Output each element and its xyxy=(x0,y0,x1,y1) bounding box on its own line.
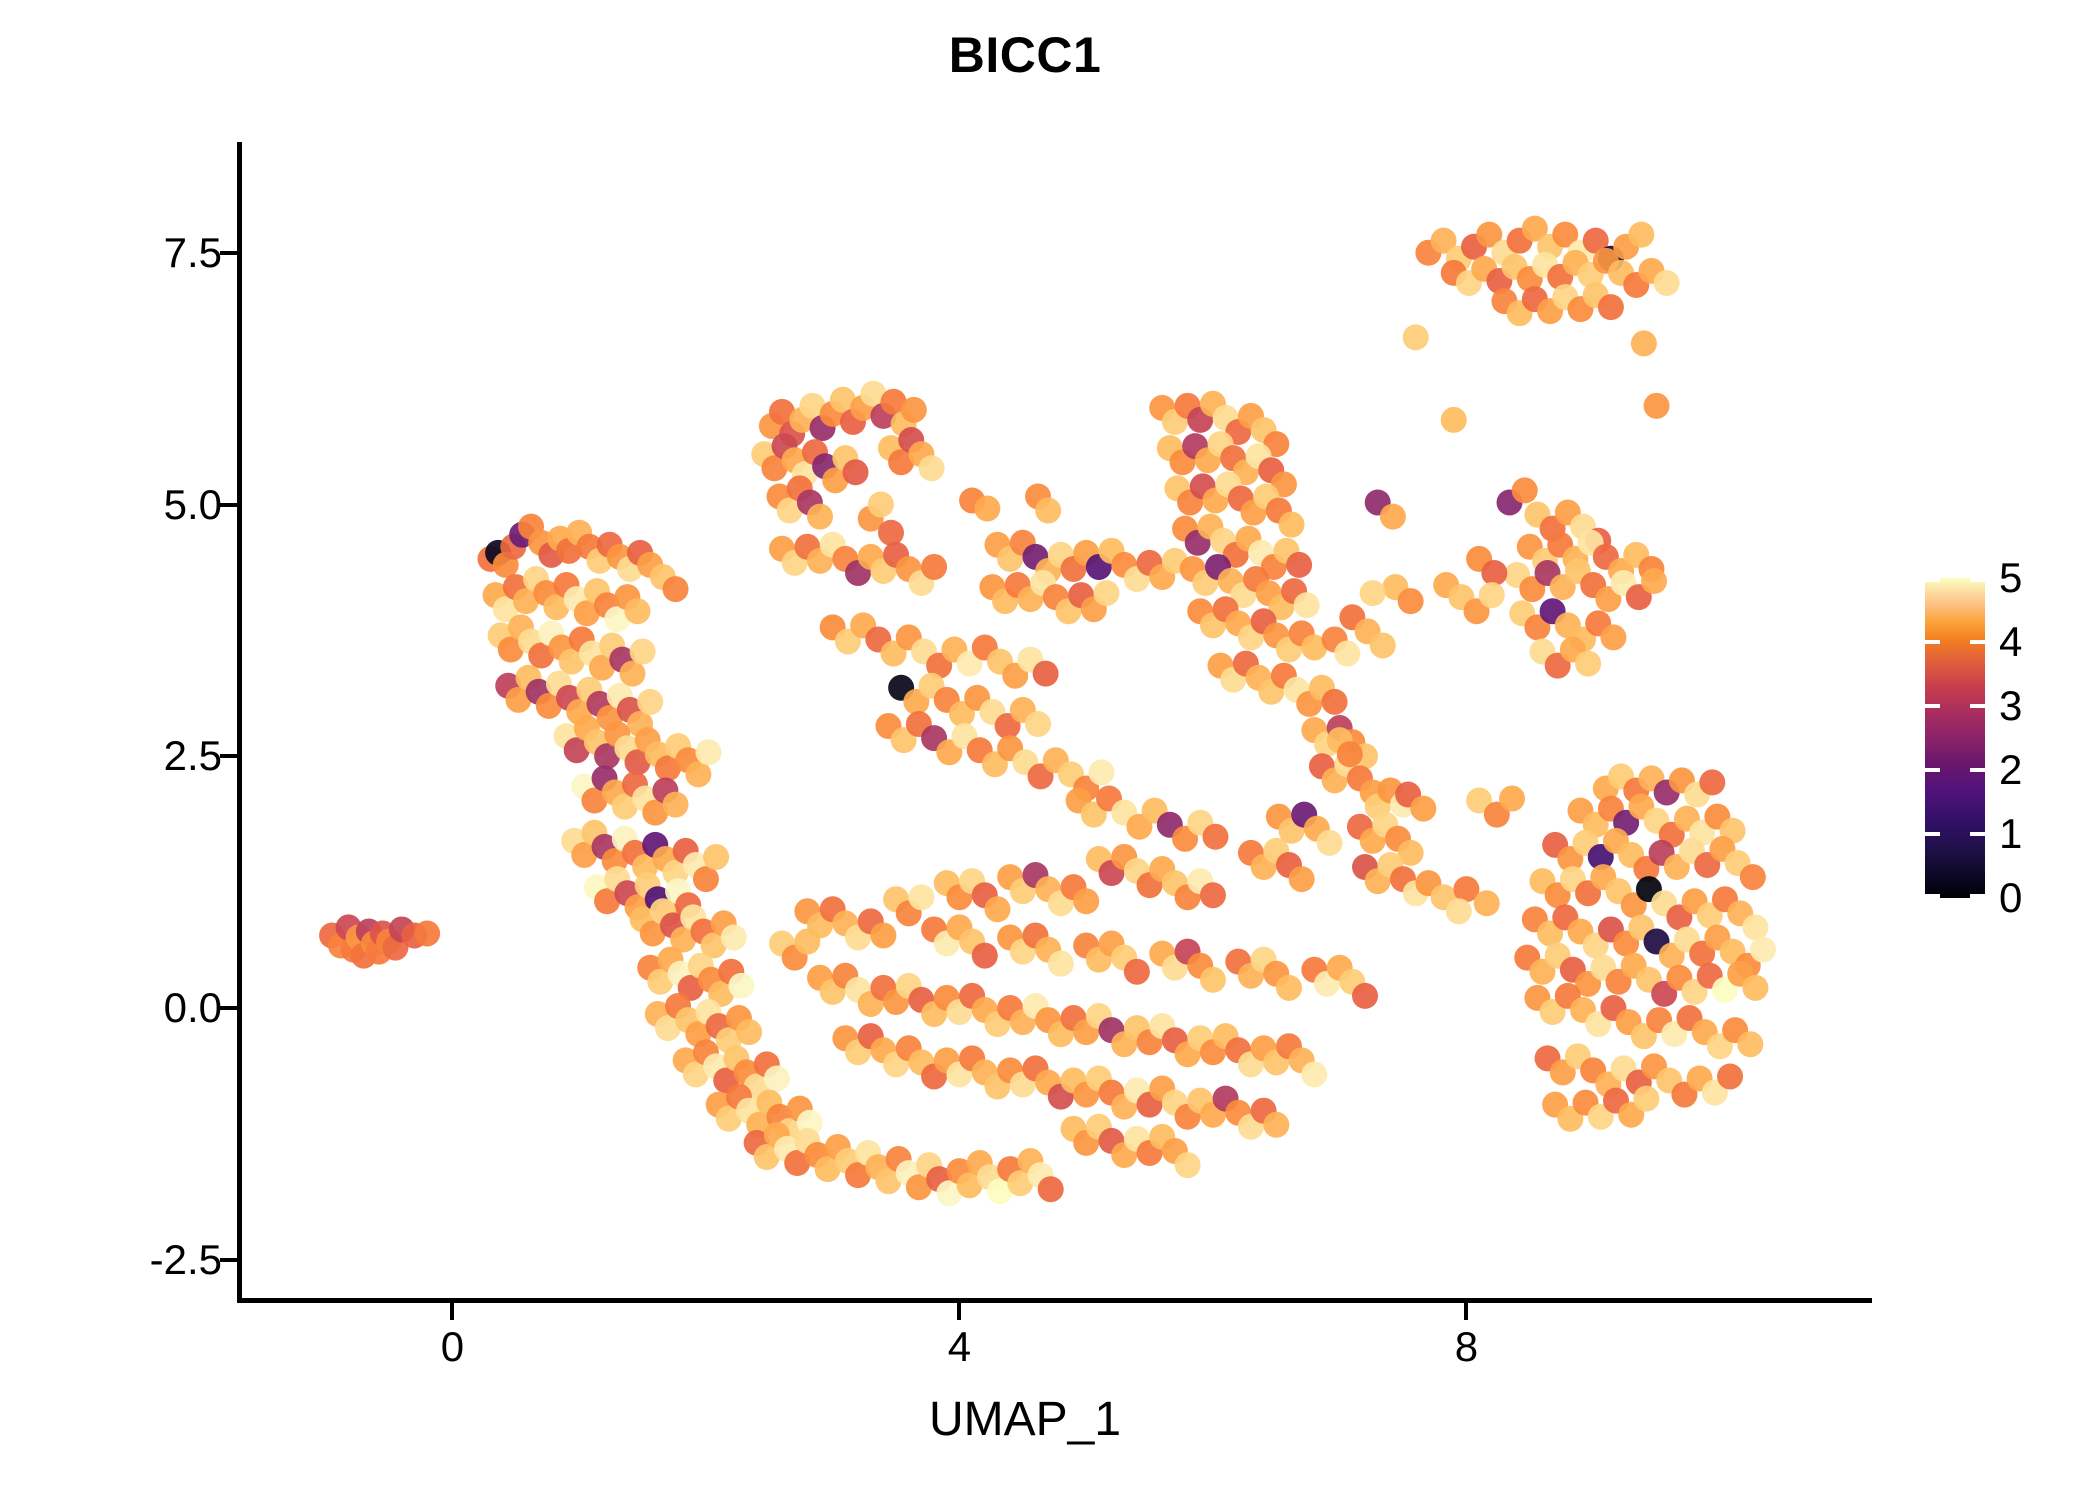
scatter-point xyxy=(1474,890,1500,916)
colorbar-legend: 012345 xyxy=(1925,578,2075,898)
x-axis-title: UMAP_1 xyxy=(0,1392,2075,1447)
colorbar-gradient xyxy=(1925,578,1985,898)
scatter-point xyxy=(807,504,833,530)
scatter-point xyxy=(1699,769,1725,795)
scatter-point xyxy=(919,455,945,481)
y-tick-mark xyxy=(220,251,237,255)
scatter-point xyxy=(1033,661,1059,687)
scatter-point xyxy=(1370,632,1396,658)
scatter-point xyxy=(1410,796,1436,822)
scatter-point xyxy=(1073,888,1099,914)
scatter-point xyxy=(663,576,689,602)
scatter-point xyxy=(1446,898,1472,924)
scatter-point xyxy=(1654,270,1680,296)
scatter-point xyxy=(974,496,1000,522)
x-tick-label: 0 xyxy=(441,1326,464,1368)
scatter-point xyxy=(1481,560,1507,586)
colorbar-tick-mark xyxy=(1970,640,1985,644)
scatter-point xyxy=(1380,504,1406,530)
scatter-point xyxy=(1035,498,1061,524)
colorbar-tick-mark xyxy=(1970,768,1985,772)
scatter-point xyxy=(843,459,869,485)
scatter-point xyxy=(703,844,729,870)
scatter-point xyxy=(1337,741,1363,767)
colorbar-tick-mark xyxy=(1925,704,1940,708)
scatter-point xyxy=(1641,568,1667,594)
scatter-points-svg xyxy=(237,142,1872,1300)
scatter-point xyxy=(637,689,663,715)
scatter-point xyxy=(1200,882,1226,908)
scatter-points-layer xyxy=(237,142,1872,1300)
y-axis-line xyxy=(237,142,242,1303)
colorbar-tick-label: 2 xyxy=(1999,749,2022,791)
colorbar-tick-mark xyxy=(1970,704,1985,708)
colorbar-tick-mark xyxy=(1970,832,1985,836)
scatter-point xyxy=(878,520,904,546)
scatter-point xyxy=(1088,759,1114,785)
scatter-point xyxy=(685,761,711,787)
scatter-point xyxy=(1750,937,1776,963)
x-tick-mark xyxy=(1464,1303,1468,1320)
scatter-point xyxy=(1737,1031,1763,1057)
scatter-point xyxy=(1598,294,1624,320)
scatter-point xyxy=(1200,967,1226,993)
scatter-point xyxy=(984,896,1010,922)
scatter-point xyxy=(1441,407,1467,433)
scatter-point xyxy=(908,884,934,910)
scatter-point xyxy=(901,397,927,423)
scatter-point xyxy=(728,973,754,999)
scatter-point xyxy=(619,661,645,687)
scatter-point xyxy=(630,639,656,665)
scatter-point xyxy=(794,929,820,955)
scatter-point xyxy=(1717,1063,1743,1089)
colorbar xyxy=(1925,578,1985,898)
scatter-point xyxy=(1289,866,1315,892)
scatter-point xyxy=(1352,983,1378,1009)
scatter-point xyxy=(1334,641,1360,667)
plot-panel xyxy=(237,142,1872,1300)
y-tick-mark xyxy=(220,1006,237,1010)
y-tick-label: 7.5 xyxy=(164,232,222,274)
scatter-point xyxy=(1093,580,1119,606)
x-tick-label: 4 xyxy=(948,1326,971,1368)
scatter-point xyxy=(870,922,896,948)
scatter-point xyxy=(868,492,894,518)
y-tick-label: 0.0 xyxy=(164,987,222,1029)
scatter-point xyxy=(1317,830,1343,856)
scatter-point xyxy=(1124,959,1150,985)
colorbar-tick-label: 4 xyxy=(1999,621,2022,663)
y-tick-label: 5.0 xyxy=(164,484,222,526)
colorbar-tick-mark xyxy=(1970,578,1985,582)
scatter-point xyxy=(1322,689,1348,715)
scatter-point xyxy=(1048,951,1074,977)
colorbar-tick-mark xyxy=(1970,894,1985,898)
y-tick-label: -2.5 xyxy=(150,1239,222,1281)
colorbar-tick-label: 1 xyxy=(1999,813,2022,855)
scatter-point xyxy=(972,943,998,969)
scatter-point xyxy=(1575,651,1601,677)
scatter-point xyxy=(1175,1152,1201,1178)
scatter-point xyxy=(1742,914,1768,940)
scatter-plot-figure: BICC1 -2.50.02.55.07.5 048 UMAP_1 UMAP_2… xyxy=(0,0,2100,1500)
x-tick-mark xyxy=(450,1303,454,1320)
x-axis-line xyxy=(237,1298,1872,1303)
scatter-point xyxy=(736,1019,762,1045)
scatter-point xyxy=(1202,824,1228,850)
colorbar-tick-mark xyxy=(1925,578,1940,582)
scatter-point xyxy=(764,1065,790,1091)
scatter-point xyxy=(1644,393,1670,419)
colorbar-tick-mark xyxy=(1925,894,1940,898)
y-tick-mark xyxy=(220,503,237,507)
scatter-point xyxy=(1279,512,1305,538)
x-tick-mark xyxy=(957,1303,961,1320)
x-tick-label: 8 xyxy=(1455,1326,1478,1368)
page-title: BICC1 xyxy=(0,26,2075,84)
scatter-point xyxy=(693,866,719,892)
colorbar-tick-label: 5 xyxy=(1999,557,2022,599)
scatter-point xyxy=(1398,588,1424,614)
scatter-point xyxy=(1633,1086,1659,1112)
scatter-point xyxy=(1499,786,1525,812)
scatter-point xyxy=(1600,624,1626,650)
colorbar-tick-label: 0 xyxy=(1999,877,2022,919)
scatter-point xyxy=(1294,592,1320,618)
scatter-point xyxy=(921,554,947,580)
scatter-point xyxy=(1276,975,1302,1001)
scatter-point xyxy=(1301,1061,1327,1087)
scatter-point xyxy=(1479,582,1505,608)
scatter-point xyxy=(1740,864,1766,890)
y-tick-label: 2.5 xyxy=(164,735,222,777)
scatter-point xyxy=(1403,324,1429,350)
scatter-point xyxy=(414,920,440,946)
scatter-point xyxy=(663,792,689,818)
scatter-point xyxy=(1038,1176,1064,1202)
scatter-point xyxy=(1025,711,1051,737)
scatter-point xyxy=(1742,975,1768,1001)
scatter-point xyxy=(721,925,747,951)
colorbar-tick-mark xyxy=(1925,768,1940,772)
colorbar-tick-mark xyxy=(1925,640,1940,644)
y-tick-mark xyxy=(220,754,237,758)
scatter-point xyxy=(1628,222,1654,248)
scatter-point xyxy=(1631,330,1657,356)
scatter-point xyxy=(1286,552,1312,578)
scatter-point xyxy=(1512,477,1538,503)
scatter-point xyxy=(1263,1112,1289,1138)
y-tick-mark xyxy=(220,1258,237,1262)
colorbar-tick-label: 3 xyxy=(1999,685,2022,727)
scatter-point xyxy=(1360,580,1386,606)
scatter-point xyxy=(625,598,651,624)
scatter-point xyxy=(695,739,721,765)
colorbar-tick-mark xyxy=(1925,832,1940,836)
